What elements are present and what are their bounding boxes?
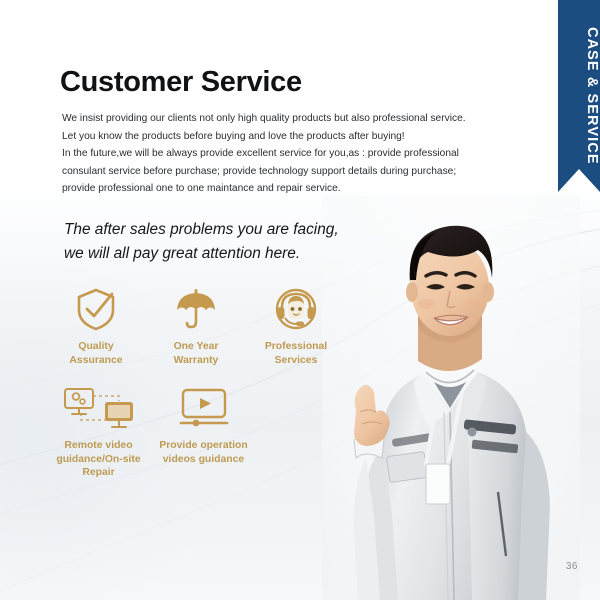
feature-label: Quality Assurance	[69, 340, 122, 367]
intro-line-2: Let you know the products before buying …	[62, 128, 482, 146]
feature-label: Professional Services	[265, 340, 327, 367]
headset-agent-icon	[273, 284, 319, 334]
feature-row-2: Remote video guidance/On-site Repair Pro…	[46, 383, 346, 480]
intro-line-1: We insist providing our clients not only…	[62, 110, 482, 128]
feature-row-1: Quality Assurance One Year Warranty	[46, 284, 346, 367]
remote-monitors-icon	[61, 383, 137, 433]
intro-line-3: In the future,we will be always provide …	[62, 145, 482, 163]
slide-page: CASE & SERVICE Customer Service We insis…	[0, 0, 600, 600]
feature-remote-video-guidance[interactable]: Remote video guidance/On-site Repair	[46, 383, 151, 480]
feature-label: Remote video guidance/On-site Repair	[56, 439, 140, 480]
feature-one-year-warranty[interactable]: One Year Warranty	[146, 284, 246, 367]
feature-grid: Quality Assurance One Year Warranty	[46, 284, 346, 480]
shield-check-icon	[73, 284, 119, 334]
feature-quality-assurance[interactable]: Quality Assurance	[46, 284, 146, 367]
pull-quote: The after sales problems you are facing,…	[64, 218, 374, 266]
page-number: 36	[566, 561, 578, 572]
feature-video-guidance[interactable]: Provide operation videos guidance	[151, 383, 256, 466]
side-tab-label: CASE & SERVICE	[558, 14, 600, 174]
intro-line-5: provide professional one to one maintanc…	[62, 180, 482, 198]
umbrella-icon	[173, 284, 219, 334]
intro-line-4: consulant service before purchase; provi…	[62, 163, 482, 181]
video-player-icon	[175, 383, 233, 433]
pull-quote-line-1: The after sales problems you are facing,	[64, 218, 374, 242]
intro-paragraph: We insist providing our clients not only…	[62, 110, 482, 198]
feature-label: Provide operation videos guidance	[159, 439, 247, 466]
side-tab-case-and-service[interactable]: CASE & SERVICE	[558, 0, 600, 192]
page-title: Customer Service	[60, 66, 302, 99]
feature-label: One Year Warranty	[174, 340, 219, 367]
pull-quote-line-2: we will all pay great attention here.	[64, 242, 374, 266]
feature-professional-services[interactable]: Professional Services	[246, 284, 346, 367]
